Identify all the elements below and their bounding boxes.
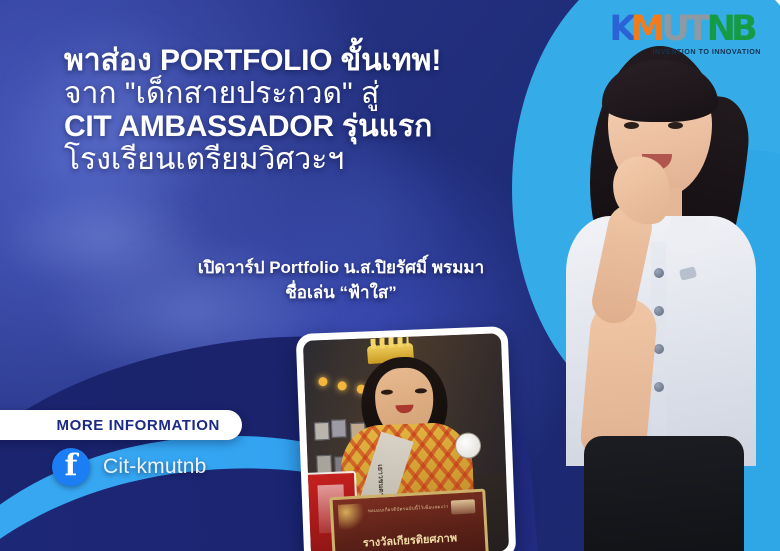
model-skirt — [584, 436, 744, 551]
headline-keyword-cit-ambassador: CIT AMBASSADOR — [64, 110, 334, 143]
model-shirt-button — [654, 306, 664, 316]
model-eye-left — [624, 122, 639, 129]
logo-letter-t: T — [686, 9, 708, 49]
more-information-badge: MORE INFORMATION — [0, 410, 242, 440]
poster-canvas: KMUTNB INVENTION TO INNOVATION พาส่อง PO… — [0, 0, 780, 551]
student-model-photo — [528, 36, 778, 551]
model-shirt-button — [654, 382, 664, 392]
facebook-handle[interactable]: Cit-kmutnb — [103, 455, 207, 479]
headline-line-2: จาก "เด็กสายประกวด" สู่ — [64, 79, 534, 110]
headline-line-3-suffix: รุ่นแรก — [334, 110, 433, 143]
more-information-label: MORE INFORMATION — [57, 417, 220, 434]
model-shirt-button — [654, 344, 664, 354]
headline-line-1: พาส่อง PORTFOLIO ขั้นเทพ! — [64, 46, 534, 77]
kmutnb-logo-wordmark: KMUTNB — [600, 12, 765, 47]
headline-line-1-suffix: ขั้นเทพ! — [332, 44, 441, 77]
logo-tagline: INVENTION TO INNOVATION — [600, 48, 765, 55]
pageant-photo: เยาวชนตราภาพ ขอมอบเกียรติบัตรฉบับนี้ไว้เ… — [303, 333, 509, 551]
facebook-contact-row[interactable]: Cit-kmutnb — [52, 448, 207, 486]
model-shirt-button — [654, 268, 664, 278]
certificate-subtext: ขอมอบเกียรติบัตรฉบับนี้ไว้เพื่อแสดงว่า — [333, 501, 483, 516]
headline-block: พาส่อง PORTFOLIO ขั้นเทพ! จาก "เด็กสายปร… — [64, 46, 534, 178]
subtitle-line-1: เปิดวาร์ป Portfolio น.ส.ปิยรัศมิ์ พรมมา — [166, 256, 516, 281]
headline-keyword-portfolio: PORTFOLIO — [160, 44, 332, 77]
model-eye-right — [668, 122, 683, 129]
logo-letter-n: N — [707, 9, 734, 49]
headline-line-1-prefix: พาส่อง — [64, 44, 160, 77]
subtitle-block: เปิดวาร์ป Portfolio น.ส.ปิยรัศมิ์ พรมมา … — [166, 256, 516, 305]
logo-letter-m: M — [631, 9, 664, 49]
headline-line-3: CIT AMBASSADOR รุ่นแรก — [64, 112, 534, 143]
facebook-icon[interactable] — [52, 448, 90, 486]
logo-letter-u: U — [661, 9, 687, 49]
pageant-photo-card: เยาวชนตราภาพ ขอมอบเกียรติบัตรฉบับนี้ไว้เ… — [296, 326, 517, 551]
headline-line-4: โรงเรียนเตรียมวิศวะฯ — [64, 145, 534, 176]
photo-award-certificate: ขอมอบเกียรติบัตรฉบับนี้ไว้เพื่อแสดงว่า ร… — [329, 489, 488, 551]
certificate-title: รางวัลเกียรติยศภาพ — [334, 527, 485, 551]
subtitle-line-2: ชื่อเล่น “ฟ้าใส” — [166, 281, 516, 306]
kmutnb-logo: KMUTNB INVENTION TO INNOVATION — [600, 12, 765, 56]
logo-letter-b: B — [731, 9, 756, 49]
